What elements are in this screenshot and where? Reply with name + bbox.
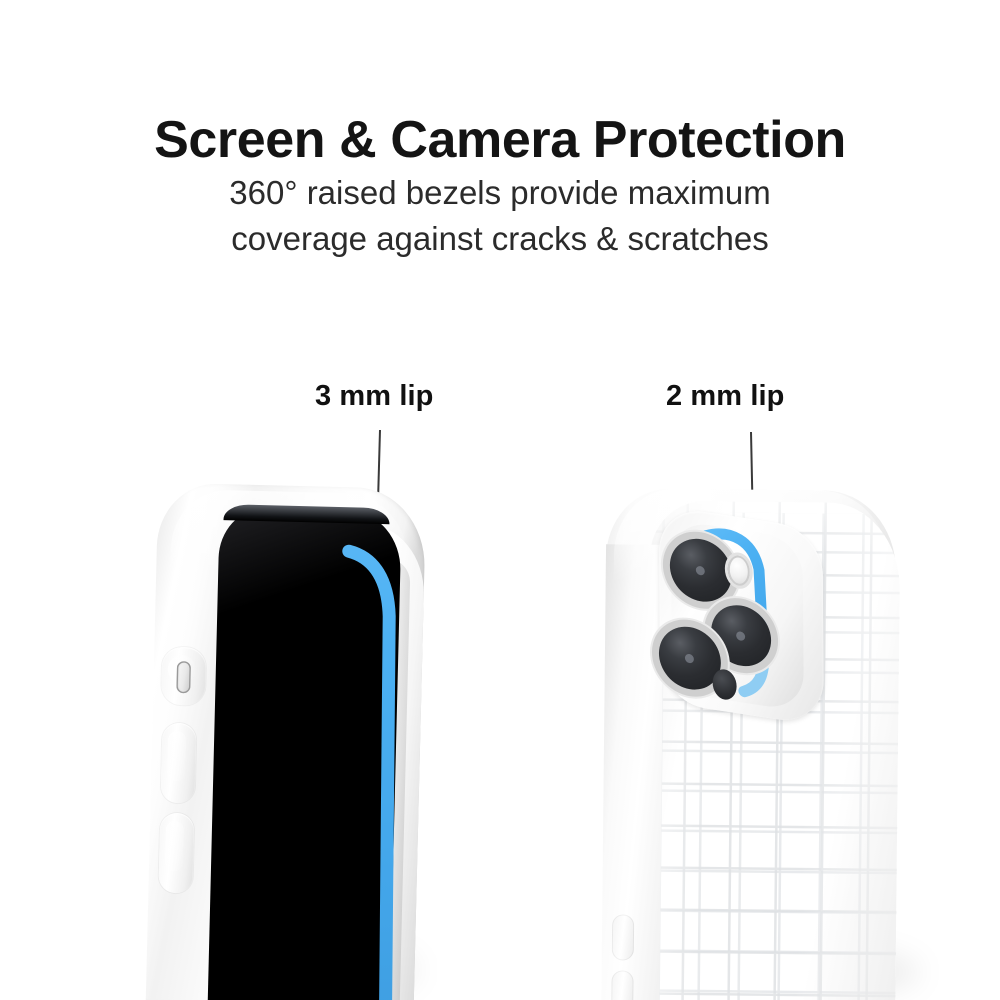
volume-up-gloss bbox=[167, 731, 186, 781]
subtitle-line-1: 360° raised bezels provide maximum bbox=[0, 170, 1000, 216]
phone-case-back-view bbox=[589, 482, 954, 1000]
phone-case-front-view bbox=[140, 482, 453, 1000]
callout-label-screen-lip: 3 mm lip bbox=[315, 380, 433, 413]
page-subtitle: 360° raised bezels provide maximum cover… bbox=[0, 170, 1000, 261]
volume-down-button[interactable] bbox=[158, 813, 194, 894]
subtitle-line-2: coverage against cracks & scratches bbox=[0, 216, 1000, 262]
volume-up-button[interactable] bbox=[161, 723, 197, 804]
product-feature-poster: Screen & Camera Protection 360° raised b… bbox=[0, 0, 1000, 1000]
page-title: Screen & Camera Protection bbox=[0, 113, 1000, 168]
mute-switch-opening[interactable] bbox=[176, 661, 191, 693]
screen-accent-stripe bbox=[320, 541, 421, 1000]
volume-down-button[interactable] bbox=[611, 970, 633, 1000]
volume-down-gloss bbox=[165, 821, 184, 871]
callout-label-camera-lip: 2 mm lip bbox=[666, 380, 784, 413]
volume-up-button[interactable] bbox=[612, 914, 634, 960]
